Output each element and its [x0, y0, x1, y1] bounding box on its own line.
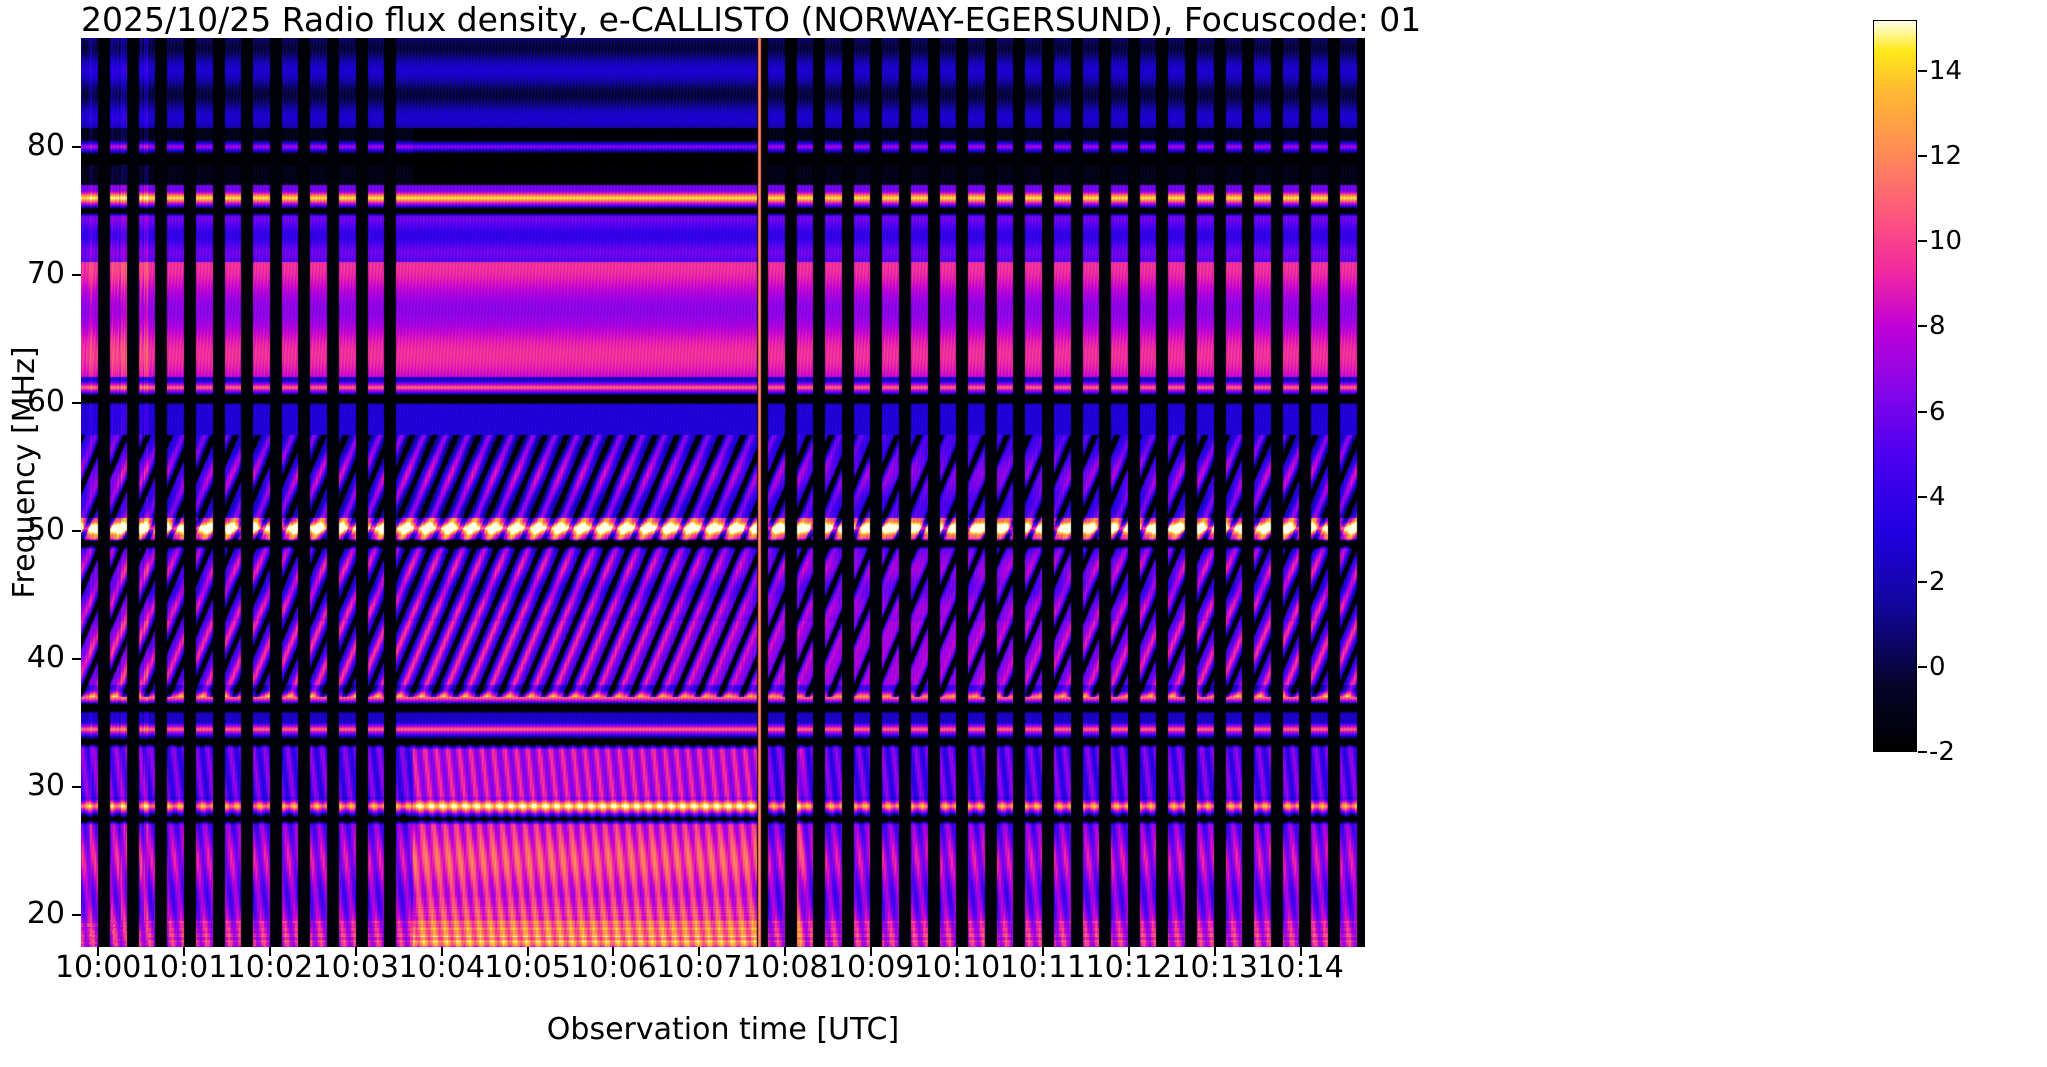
y-tick-mark	[72, 402, 81, 404]
colorbar-tick-label: 2	[1929, 569, 1946, 595]
colorbar-tick-mark	[1918, 581, 1927, 583]
y-tick-mark	[72, 786, 81, 788]
colorbar-tick-mark	[1918, 240, 1927, 242]
colorbar-tick-mark	[1918, 155, 1927, 157]
colorbar-tick-mark	[1918, 325, 1927, 327]
spectrogram-plot-area	[81, 38, 1365, 947]
y-tick-mark	[72, 914, 81, 916]
x-axis-label: Observation time [UTC]	[81, 1012, 1365, 1047]
colorbar	[1873, 20, 1917, 752]
colorbar-tick-mark	[1918, 751, 1927, 753]
colorbar-tick-label: 12	[1929, 143, 1962, 169]
colorbar-tick-label: 0	[1929, 654, 1946, 680]
page-title: 2025/10/25 Radio flux density, e-CALLIST…	[81, 2, 1365, 38]
spectrogram-canvas	[81, 38, 1365, 947]
y-tick-mark	[72, 146, 81, 148]
spectrogram-figure: 2025/10/25 Radio flux density, e-CALLIST…	[0, 0, 2047, 1067]
colorbar-tick-mark	[1918, 70, 1927, 72]
y-tick-mark	[72, 658, 81, 660]
colorbar-tick-label: 6	[1929, 399, 1946, 425]
colorbar-tick-label: 14	[1929, 58, 1962, 84]
colorbar-gradient	[1874, 21, 1916, 751]
colorbar-tick-label: 4	[1929, 484, 1946, 510]
colorbar-tick-mark	[1918, 666, 1927, 668]
colorbar-tick-label: -2	[1929, 739, 1955, 765]
colorbar-tick-mark	[1918, 496, 1927, 498]
colorbar-tick-label: 8	[1929, 313, 1946, 339]
colorbar-tick-label: 10	[1929, 228, 1962, 254]
colorbar-tick-mark	[1918, 411, 1927, 413]
x-tick-label: 10:14	[1241, 952, 1361, 984]
y-tick-mark	[72, 530, 81, 532]
y-tick-mark	[72, 274, 81, 276]
y-axis-label: Frequency [MHz]	[7, 18, 42, 927]
